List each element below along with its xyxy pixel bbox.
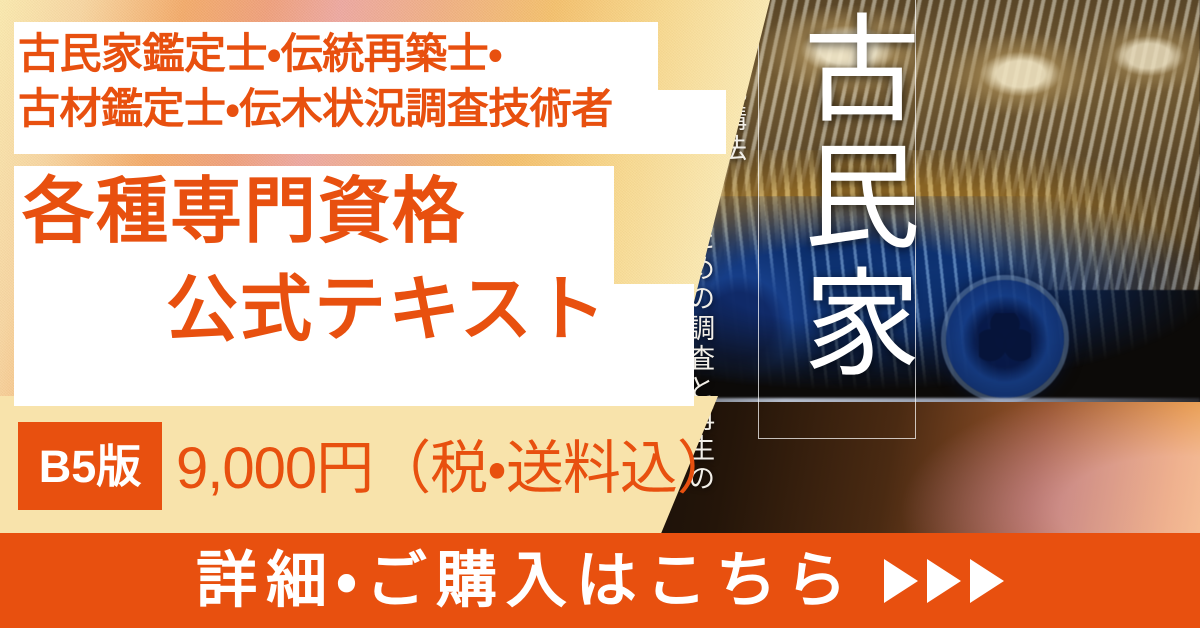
format-badge-label: B5版 xyxy=(39,444,142,489)
triangle-right-icon xyxy=(970,559,1004,603)
triangle-right-icon xyxy=(884,559,918,603)
family-crest-roundel-icon xyxy=(946,280,1064,398)
cta-bar[interactable]: 詳細・ご購入はこちら xyxy=(0,533,1200,628)
triangle-right-icon xyxy=(927,559,961,603)
format-badge: B5版 xyxy=(18,422,162,510)
main-title-line-1: 各種専門資格 xyxy=(22,176,466,248)
cta-label: 詳細・ご購入はこちら xyxy=(196,550,856,611)
price-text: 9,000円（税・送料込） xyxy=(176,432,734,506)
book-cover-title: 古民家 xyxy=(762,8,912,428)
qualifications-headline: 古民家鑑定士・伝統再築士・ 古材鑑定士・伝木状況調査技術者 xyxy=(18,26,724,137)
main-title-line-2: 公式テキスト xyxy=(166,274,608,346)
promo-banner: 古民家 伝統構法 古民家活用のための調査と再生の 古民家鑑定士・伝統再築士・ 古… xyxy=(0,0,1200,628)
cta-arrow-group xyxy=(884,559,1004,603)
